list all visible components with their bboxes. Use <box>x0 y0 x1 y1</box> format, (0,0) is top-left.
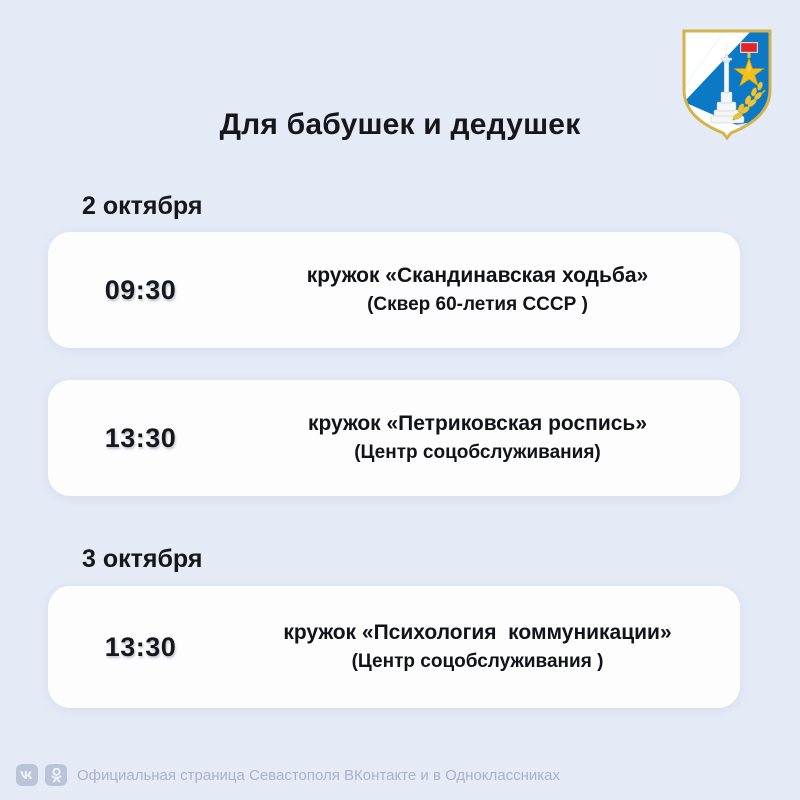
event-details: кружок «Психология коммуникации» (Центр … <box>223 620 740 675</box>
day-heading: 3 октября <box>0 528 800 586</box>
event-card[interactable]: 13:30 кружок «Психология коммуникации» (… <box>48 586 740 708</box>
event-name: кружок «Скандинавская ходьба» <box>223 263 732 290</box>
ok-icon[interactable] <box>45 764 67 786</box>
footer-text: Официальная страница Севастополя ВКонтак… <box>77 767 560 784</box>
day-group: 3 октября 13:30 кружок «Психология комму… <box>0 528 800 708</box>
event-venue: (Центр соцобслуживания) <box>223 440 732 466</box>
poster-root: Для бабушек и дедушек 2 октября 09:30 кр… <box>0 0 800 800</box>
event-venue: (Сквер 60-летия СССР ) <box>223 292 732 318</box>
event-time: 13:30 <box>48 423 223 454</box>
page-title: Для бабушек и дедушек <box>0 108 800 142</box>
schedule-list: 2 октября 09:30 кружок «Скандинавская хо… <box>0 180 800 708</box>
event-venue: (Центр соцобслуживания ) <box>223 649 732 675</box>
event-card[interactable]: 13:30 кружок «Петриковская роспись» (Цен… <box>48 380 740 496</box>
footer: Официальная страница Севастополя ВКонтак… <box>16 764 560 786</box>
event-details: кружок «Скандинавская ходьба» (Сквер 60-… <box>223 263 740 318</box>
event-time: 13:30 <box>48 632 223 663</box>
event-card[interactable]: 09:30 кружок «Скандинавская ходьба» (Скв… <box>48 232 740 348</box>
vk-icon[interactable] <box>16 764 38 786</box>
event-name: кружок «Психология коммуникации» <box>223 620 732 647</box>
day-heading: 2 октября <box>0 180 800 232</box>
event-details: кружок «Петриковская роспись» (Центр соц… <box>223 411 740 466</box>
event-time: 09:30 <box>48 275 223 306</box>
event-name: кружок «Петриковская роспись» <box>223 411 732 438</box>
day-group: 2 октября 09:30 кружок «Скандинавская хо… <box>0 180 800 496</box>
